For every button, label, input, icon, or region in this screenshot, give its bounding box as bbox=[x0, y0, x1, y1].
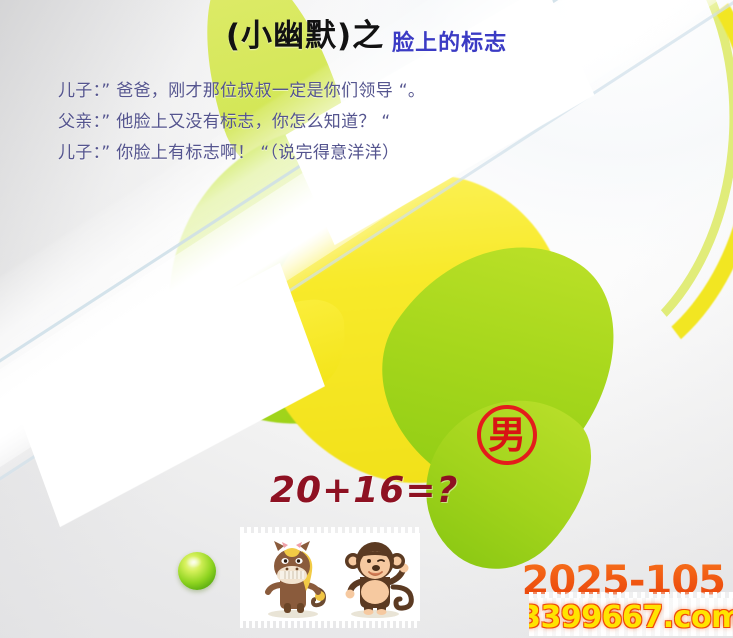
stamp-character: 男 bbox=[488, 416, 526, 454]
joke-line-2: 父亲：” 他脸上又没有标志，你怎么知道？ “ bbox=[58, 107, 425, 138]
equation-text: 20+16=? bbox=[270, 470, 458, 511]
joke-line-3: 儿子：” 你脸上有标志啊！ “（说完得意洋洋） bbox=[58, 138, 425, 169]
poster-canvas: (小幽默)之脸上的标志 儿子：” 爸爸，刚才那位叔叔一定是你们领导 “。 父亲：… bbox=[0, 0, 733, 638]
joke-line-1: 儿子：” 爸爸，刚才那位叔叔一定是你们领导 “。 bbox=[58, 76, 425, 107]
horse-cartoon-icon bbox=[254, 539, 332, 619]
joke-text-block: 儿子：” 爸爸，刚才那位叔叔一定是你们领导 “。 父亲：” 他脸上又没有标志，你… bbox=[58, 76, 425, 169]
animal-card bbox=[240, 533, 420, 621]
site-url-text: 3399667.com bbox=[529, 600, 733, 635]
green-ball-highlight bbox=[186, 556, 202, 568]
site-banner: 3399667.com bbox=[529, 598, 733, 636]
poster-title: (小幽默)之脸上的标志 bbox=[0, 10, 733, 55]
monkey-cartoon-icon bbox=[335, 537, 415, 619]
gender-stamp: 男 bbox=[477, 405, 537, 465]
title-main-text: (小幽默)之 bbox=[226, 18, 384, 54]
title-sub-text: 脸上的标志 bbox=[392, 31, 507, 56]
